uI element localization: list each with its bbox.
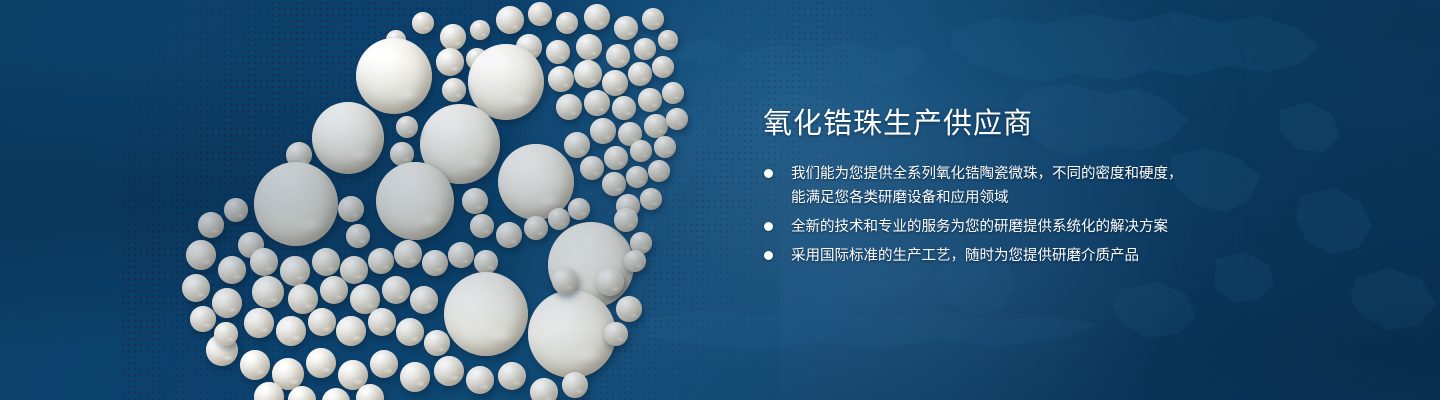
bullet-dot-icon: [764, 169, 773, 178]
list-item: 全新的技术和专业的服务为您的研磨提供系统化的解决方案: [763, 215, 1223, 239]
list-item: 我们能为您提供全系列氧化锆陶瓷微珠，不同的密度和硬度， 能满足您各类研磨设备和应…: [763, 162, 1223, 210]
feature-list: 我们能为您提供全系列氧化锆陶瓷微珠，不同的密度和硬度， 能满足您各类研磨设备和应…: [763, 162, 1223, 268]
banner-copy: 氧化锆珠生产供应商 我们能为您提供全系列氧化锆陶瓷微珠，不同的密度和硬度， 能满…: [763, 104, 1223, 273]
background-vignette: [0, 0, 1440, 400]
hero-banner: 氧化锆珠生产供应商 我们能为您提供全系列氧化锆陶瓷微珠，不同的密度和硬度， 能满…: [0, 0, 1440, 400]
list-item: 采用国际标准的生产工艺，随时为您提供研磨介质产品: [763, 244, 1223, 268]
list-item-line: 我们能为您提供全系列氧化锆陶瓷微珠，不同的密度和硬度，: [791, 162, 1223, 186]
page-title: 氧化锆珠生产供应商: [763, 104, 1223, 144]
bullet-dot-icon: [764, 251, 773, 260]
bullet-dot-icon: [764, 222, 773, 231]
list-item-line: 能满足您各类研磨设备和应用领域: [791, 186, 1223, 210]
list-item-line: 全新的技术和专业的服务为您的研磨提供系统化的解决方案: [791, 215, 1223, 239]
list-item-line: 采用国际标准的生产工艺，随时为您提供研磨介质产品: [791, 244, 1223, 268]
